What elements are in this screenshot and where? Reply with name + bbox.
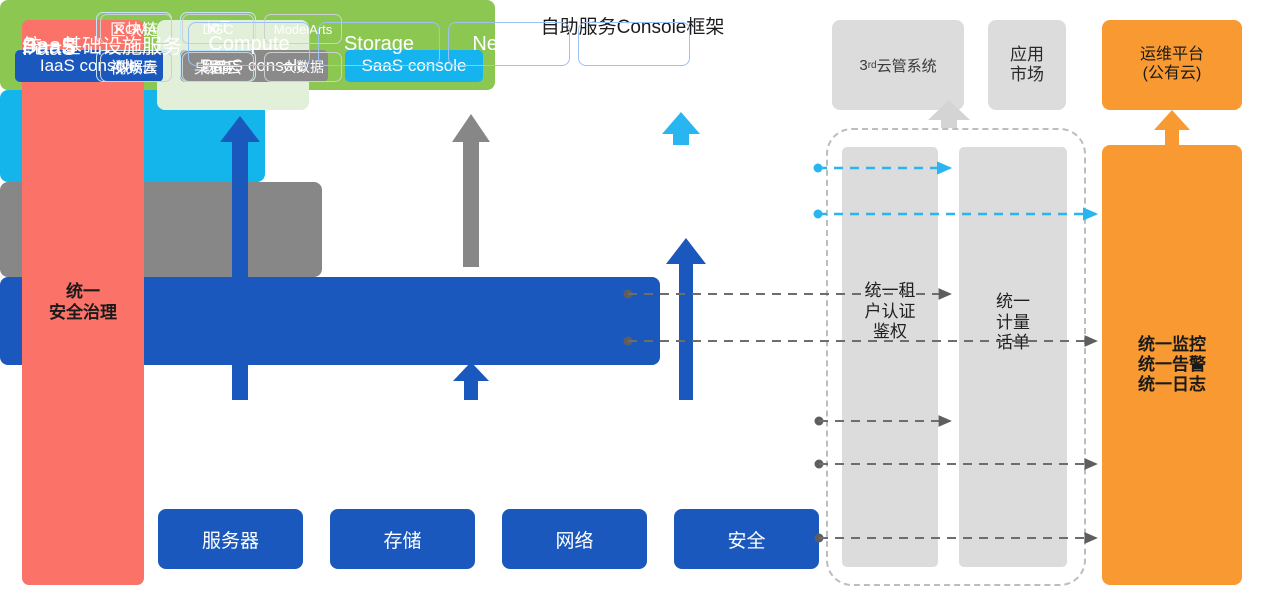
unified-metering-column (959, 147, 1067, 567)
arrow-saas-to-console (662, 112, 700, 145)
third-party-label-sup: rd (868, 60, 877, 71)
infra-chip-cce[interactable]: CCE (578, 22, 690, 66)
unified-monitoring-alarm-log-panel: 统一监控 统一告警 统一日志 (1102, 145, 1242, 585)
infra-chip-storage[interactable]: Storage (318, 22, 440, 66)
third-party-label-rest: 云管系统 (877, 55, 937, 76)
architecture-diagram: 统一 安全治理 API网关 自助服务Console框架 IaaS console… (0, 0, 1265, 605)
arrow-infra-to-saas (666, 238, 706, 400)
hardware-box-server[interactable]: 服务器 (158, 509, 303, 569)
arrow-infra-to-paas (453, 362, 489, 400)
arrow-ops-rail-to-ops-platform (1154, 110, 1190, 145)
unified-tenant-auth-column (842, 147, 938, 567)
infra-chip-compute[interactable]: Compute (188, 22, 310, 66)
arrow-paas-to-console (452, 114, 490, 267)
unified-metering-label: 统一 计量 话单 (959, 292, 1067, 354)
hardware-box-security[interactable]: 安全 (674, 509, 819, 569)
hardware-box-network[interactable]: 网络 (502, 509, 647, 569)
ops-platform-public-cloud-box: 运维平台 (公有云) (1102, 20, 1242, 110)
hardware-box-storage[interactable]: 存储 (330, 509, 475, 569)
infra-chip-network[interactable]: Network (448, 22, 570, 66)
third-party-cloud-mgmt-box: 3rd云管系统 (832, 20, 964, 110)
third-party-label-prefix: 3 (859, 57, 867, 74)
unified-tenant-auth-label: 统一租 户认证 鉴权 (842, 281, 938, 343)
app-market-box: 应用 市场 (988, 20, 1066, 110)
unified-security-governance-panel: 统一 安全治理 (22, 20, 144, 585)
infra-title: 统一基础设施服务 (12, 0, 192, 88)
